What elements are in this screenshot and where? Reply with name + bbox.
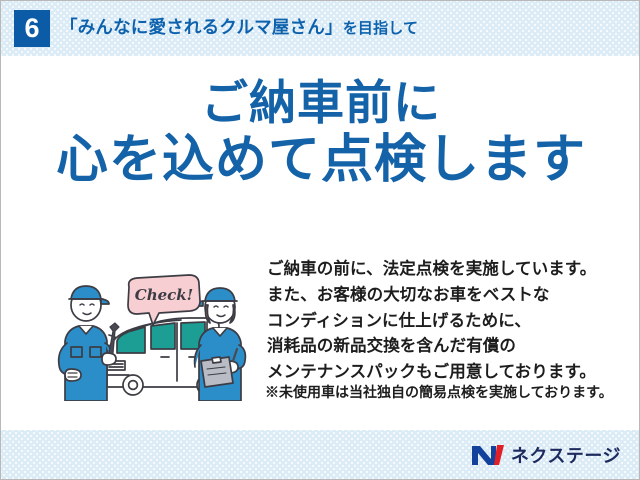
body-line: ご納車の前に、法定点検を実施しています。 [267,257,633,283]
page-title: ご納車前に 心を込めて点検します [1,79,640,187]
check-bubble-label: Check! [135,286,194,304]
header-title-suffix: を目指して [343,20,419,37]
headline-line-1: ご納車前に [1,79,640,127]
body-paragraph: ご納車の前に、法定点検を実施しています。 また、お客様の大切なお車をベストな コ… [267,257,633,386]
section-number-badge: 6 [14,10,50,47]
brand-name: ネクステージ [511,442,621,468]
body-line: 消耗品の新品交換を含んだ有償の [267,334,633,360]
mechanics-illustration: Check! [49,269,259,401]
body-line: また、お客様の大切なお車をベストな [267,283,633,309]
brand-logo: ネクステージ [471,442,621,467]
n-mark-icon [471,443,505,467]
body-line: コンディションに仕上げるために、 [267,309,633,335]
header-title-quoted: 「みんなに愛されるクルマ屋さん」 [60,17,343,37]
mechanic-female-illustration [195,288,246,401]
promo-slide: 6 「みんなに愛されるクルマ屋さん」を目指して ご納車前に 心を込めて点検します [0,0,640,480]
disclaimer-note: ※未使用車は当社独自の簡易点検を実施しております。 [265,382,635,402]
headline-line-2: 心を込めて点検します [1,134,640,187]
header-title: 「みんなに愛されるクルマ屋さん」を目指して [60,14,418,39]
